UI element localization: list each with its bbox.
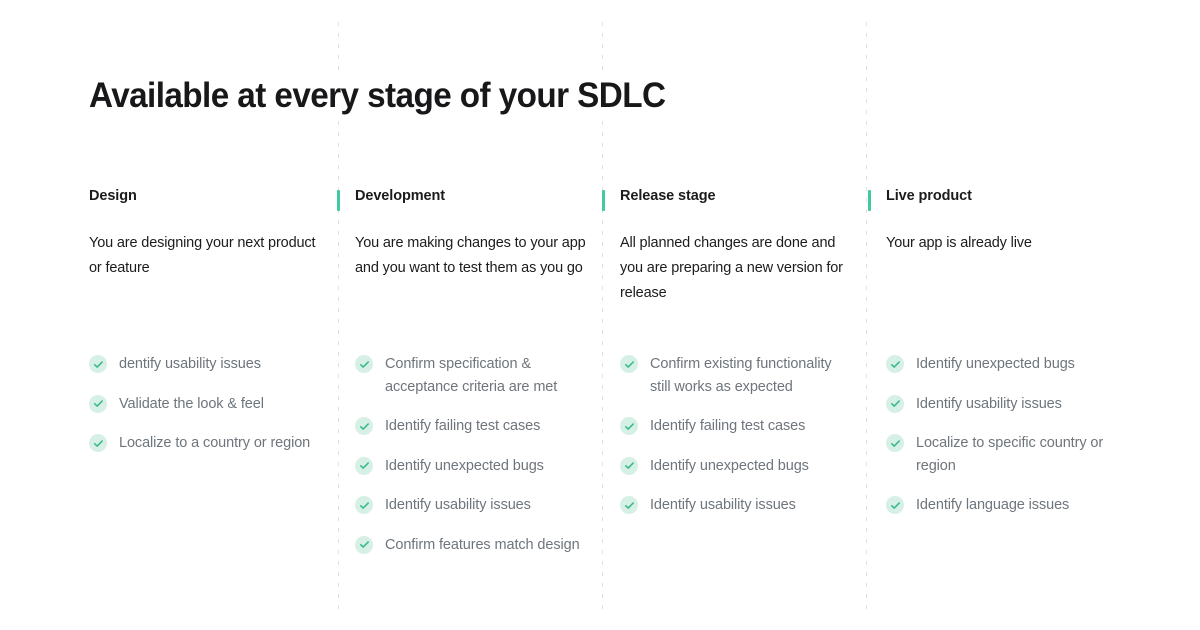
list-item-label: Identify usability issues [916,393,1062,416]
check-circle-icon [886,355,904,373]
stage-heading: Design [89,186,321,206]
list-item-label: Localize to a country or region [119,432,310,455]
list-item: Confirm specification & acceptance crite… [355,353,587,398]
check-circle-icon [886,395,904,413]
list-item-label: dentify usability issues [119,353,261,376]
list-item: Identify usability issues [886,393,1126,416]
stage-checklist: Identify unexpected bugsIdentify usabili… [886,353,1126,517]
list-item: Identify language issues [886,494,1126,517]
list-item: Identify usability issues [355,494,587,517]
stage-heading: Live product [886,186,1126,206]
check-circle-icon [89,434,107,452]
check-circle-icon [886,434,904,452]
list-item: Identify unexpected bugs [620,455,852,478]
list-item-label: Identify language issues [916,494,1069,517]
stage-heading: Release stage [620,186,852,206]
list-item: Validate the look & feel [89,393,321,416]
list-item: Identify usability issues [620,494,852,517]
list-item: Localize to a country or region [89,432,321,455]
list-item: Confirm existing functionality still wor… [620,353,852,398]
list-item: Confirm features match design [355,534,587,557]
stage-description: Your app is already live [886,231,1126,256]
check-circle-icon [355,417,373,435]
accent-bar [602,190,605,211]
list-item: dentify usability issues [89,353,321,376]
check-circle-icon [886,496,904,514]
stage-description: All planned changes are done and you are… [620,231,852,306]
check-circle-icon [355,536,373,554]
check-circle-icon [620,457,638,475]
list-item: Identify failing test cases [620,415,852,438]
list-item-label: Localize to specific country or region [916,432,1126,477]
check-circle-icon [355,496,373,514]
check-circle-icon [355,457,373,475]
list-item-label: Identify unexpected bugs [385,455,544,478]
infographic-page: Available at every stage of your SDLC De… [0,0,1200,630]
stage-description: You are designing your next product or f… [89,231,321,281]
list-item-label: Confirm features match design [385,534,580,557]
page-title: Available at every stage of your SDLC [89,74,671,118]
stage-checklist: dentify usability issuesValidate the loo… [89,353,321,455]
stage-column-3: Live productYour app is already liveIden… [886,186,1126,256]
list-item-label: Identify usability issues [650,494,796,517]
list-item-label: Identify usability issues [385,494,531,517]
stage-description: You are making changes to your app and y… [355,231,587,281]
list-item: Identify unexpected bugs [355,455,587,478]
stage-column-1: DevelopmentYou are making changes to you… [355,186,587,281]
list-item-label: Confirm specification & acceptance crite… [385,353,587,398]
check-circle-icon [355,355,373,373]
accent-bar [337,190,340,211]
check-circle-icon [620,417,638,435]
accent-bar [868,190,871,211]
list-item-label: Identify unexpected bugs [916,353,1075,376]
check-circle-icon [89,395,107,413]
list-item-label: Identify failing test cases [650,415,805,438]
stage-checklist: Confirm specification & acceptance crite… [355,353,587,556]
list-item: Identify unexpected bugs [886,353,1126,376]
list-item-label: Confirm existing functionality still wor… [650,353,852,398]
check-circle-icon [620,355,638,373]
list-item-label: Identify unexpected bugs [650,455,809,478]
list-item: Localize to specific country or region [886,432,1126,477]
stage-column-2: Release stageAll planned changes are don… [620,186,852,306]
stage-column-0: DesignYou are designing your next produc… [89,186,321,281]
check-circle-icon [620,496,638,514]
check-circle-icon [89,355,107,373]
list-item-label: Identify failing test cases [385,415,540,438]
stage-heading: Development [355,186,587,206]
stage-checklist: Confirm existing functionality still wor… [620,353,852,517]
list-item: Identify failing test cases [355,415,587,438]
list-item-label: Validate the look & feel [119,393,264,416]
